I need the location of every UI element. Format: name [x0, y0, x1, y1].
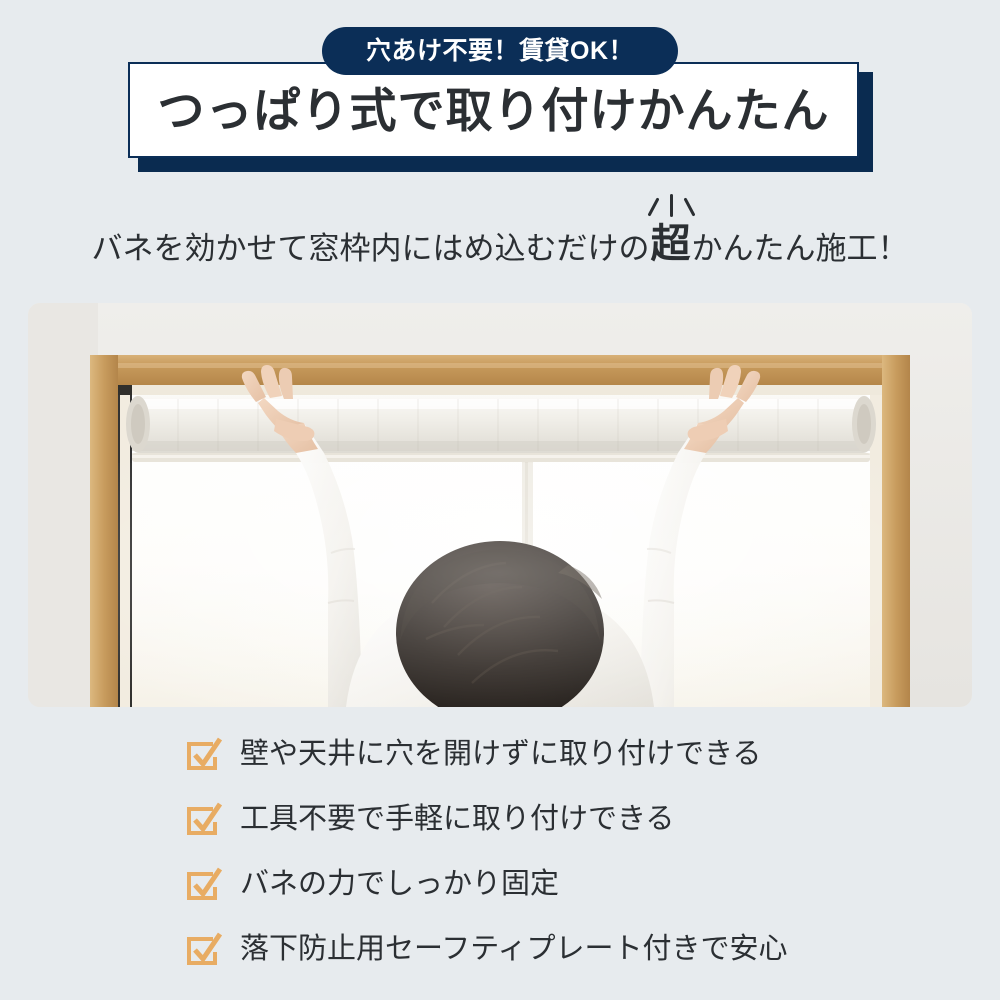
- checkbox-checked-icon: [186, 868, 220, 902]
- badge-no-drilling: 穴あけ不要！賃貸OK！: [322, 27, 678, 75]
- installation-photo: [28, 303, 972, 707]
- list-item: 壁や天井に穴を開けずに取り付けできる: [0, 722, 1000, 787]
- subtitle-after: かんたん施工！: [692, 233, 909, 264]
- feature-list: 壁や天井に穴を開けずに取り付けできる 工具不要で手軽に取り付けできる バネの力で…: [0, 722, 1000, 982]
- list-item: 工具不要で手軽に取り付けできる: [0, 787, 1000, 852]
- checkbox-checked-icon: [186, 803, 220, 837]
- list-item-label: 落下防止用セーフティプレート付きで安心: [240, 935, 788, 964]
- checkbox-checked-icon: [186, 933, 220, 967]
- title-box: つっぱり式で取り付けかんたん: [128, 62, 859, 158]
- emphasis-marks-icon: [643, 194, 699, 220]
- subtitle-before: バネを効かせて窓枠内にはめ込むだけの: [92, 233, 650, 264]
- list-item: 落下防止用セーフティプレート付きで安心: [0, 917, 1000, 982]
- checkbox-checked-icon: [186, 738, 220, 772]
- subtitle-row: バネを効かせて窓枠内にはめ込むだけの超かんたん施工！: [0, 196, 1000, 286]
- subtitle: バネを効かせて窓枠内にはめ込むだけの超かんたん施工！: [92, 224, 909, 286]
- subtitle-emphasis-wrap: 超: [651, 224, 691, 264]
- list-item: バネの力でしっかり固定: [0, 852, 1000, 917]
- header-banner: つっぱり式で取り付けかんたん 穴あけ不要！賃貸OK！: [0, 0, 1000, 190]
- photo-illustration: [28, 303, 972, 707]
- page-title: つっぱり式で取り付けかんたん: [158, 87, 830, 134]
- list-item-label: バネの力でしっかり固定: [240, 870, 559, 899]
- list-item-label: 工具不要で手軽に取り付けできる: [240, 805, 674, 834]
- subtitle-emphasis: 超: [651, 224, 691, 264]
- list-item-label: 壁や天井に穴を開けずに取り付けできる: [240, 740, 761, 769]
